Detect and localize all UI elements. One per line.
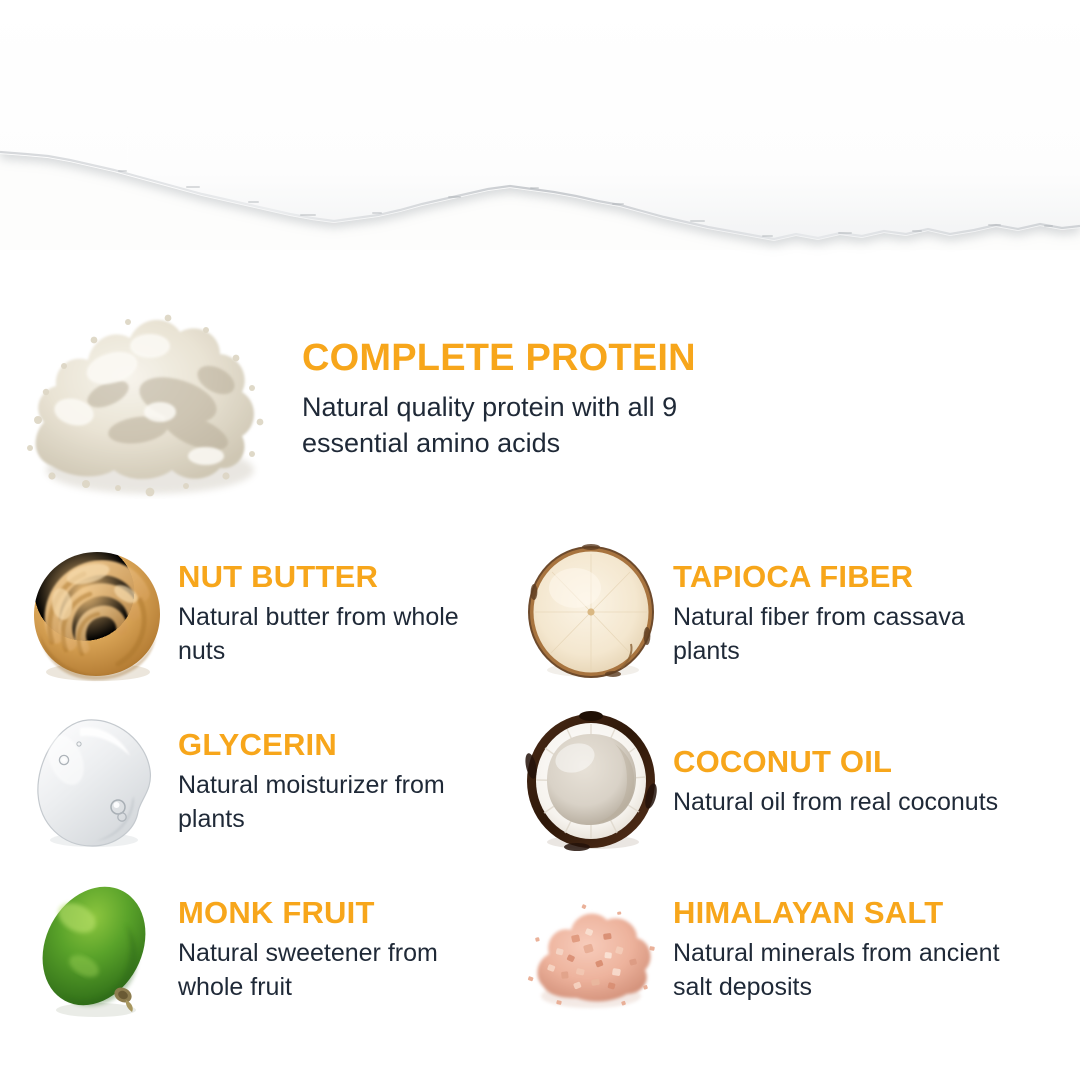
ingredient-item-complete-protein[interactable]: COMPLETE PROTEIN Natural quality protein… [0, 270, 1000, 525]
coconut-half-icon [517, 708, 667, 858]
ingredient-text-block: COMPLETE PROTEIN Natural quality protein… [290, 333, 1000, 461]
monk-fruit-image [22, 876, 172, 1026]
ingredient-title: GLYCERIN [178, 729, 522, 760]
ingredient-item-glycerin[interactable]: GLYCERIN Natural moisturizer from plants [22, 700, 522, 865]
ingredient-title: COCONUT OIL [673, 746, 1017, 777]
trademark-symbol: ™ [888, 121, 907, 143]
ingredient-title: MONK FRUIT [178, 897, 522, 928]
ingredient-item-coconut-oil[interactable]: COCONUT OIL Natural oil from real coconu… [517, 700, 1017, 865]
ingredient-description: Natural quality protein with all 9 essen… [302, 390, 772, 461]
ingredient-text-block: GLYCERIN Natural moisturizer from plants [172, 729, 522, 836]
ingredient-text-block: HIMALAYAN SALT Natural minerals from anc… [667, 897, 1017, 1004]
ingredient-text-block: TAPIOCA FIBER Natural fiber from cassava… [667, 561, 1017, 668]
monk-fruit-icon [22, 876, 172, 1026]
ingredient-description: Natural fiber from cassava plants [673, 601, 1003, 668]
ingredient-description: Natural butter from whole nuts [178, 601, 508, 668]
ingredient-text-block: NUT BUTTER Natural butter from whole nut… [172, 561, 522, 668]
ingredient-item-monk-fruit[interactable]: MONK FRUIT Natural sweetener from whole … [22, 868, 522, 1033]
headline-line-1: PROTEIN YOU NEED [38, 42, 1042, 108]
ingredient-description: Natural moisturizer from plants [178, 769, 508, 836]
himalayan-salt-pile-icon [517, 876, 667, 1026]
ingredient-text-block: MONK FRUIT Natural sweetener from whole … [172, 897, 522, 1004]
himalayan-salt-pile-image [517, 876, 667, 1026]
nut-butter-swirl-image [22, 540, 172, 690]
ingredient-title: HIMALAYAN SALT [673, 897, 1017, 928]
ingredients-grid: NUT BUTTER Natural butter from whole nut… [0, 532, 1080, 1080]
ingredient-text-block: COCONUT OIL Natural oil from real coconu… [667, 746, 1017, 819]
protein-powder-pile-icon [0, 270, 290, 525]
headline-line-2-text: INGREDIENTS YOU KNOW [174, 107, 888, 176]
glycerin-gel-drop-image [22, 708, 172, 858]
ingredient-description: Natural oil from real coconuts [673, 786, 1003, 819]
ingredient-item-tapioca-fiber[interactable]: TAPIOCA FIBER Natural fiber from cassava… [517, 532, 1017, 697]
cassava-root-slice-image [517, 540, 667, 690]
glycerin-gel-drop-icon [22, 708, 172, 858]
ingredient-infographic-poster: PROTEIN YOU NEED INGREDIENTS YOU KNOW™ [0, 0, 1080, 1080]
ingredient-description: Natural sweetener from whole fruit [178, 937, 508, 1004]
ingredient-item-nut-butter[interactable]: NUT BUTTER Natural butter from whole nut… [22, 532, 522, 697]
ingredient-item-himalayan-salt[interactable]: HIMALAYAN SALT Natural minerals from anc… [517, 868, 1017, 1033]
ingredient-description: Natural minerals from ancient salt depos… [673, 937, 1003, 1004]
nut-butter-swirl-icon [22, 540, 172, 690]
ingredient-title: TAPIOCA FIBER [673, 561, 1017, 592]
coconut-half-image [517, 708, 667, 858]
headline-block: PROTEIN YOU NEED INGREDIENTS YOU KNOW™ [0, 42, 1080, 172]
cassava-root-slice-icon [517, 540, 667, 690]
ingredient-title: COMPLETE PROTEIN [302, 339, 1000, 377]
ingredients-list: COMPLETE PROTEIN Natural quality protein… [0, 262, 1080, 1080]
headline-line-2: INGREDIENTS YOU KNOW™ [38, 112, 1042, 172]
protein-powder-pile-image [0, 270, 290, 525]
ingredient-title: NUT BUTTER [178, 561, 522, 592]
header-band: PROTEIN YOU NEED INGREDIENTS YOU KNOW™ [0, 0, 1080, 250]
